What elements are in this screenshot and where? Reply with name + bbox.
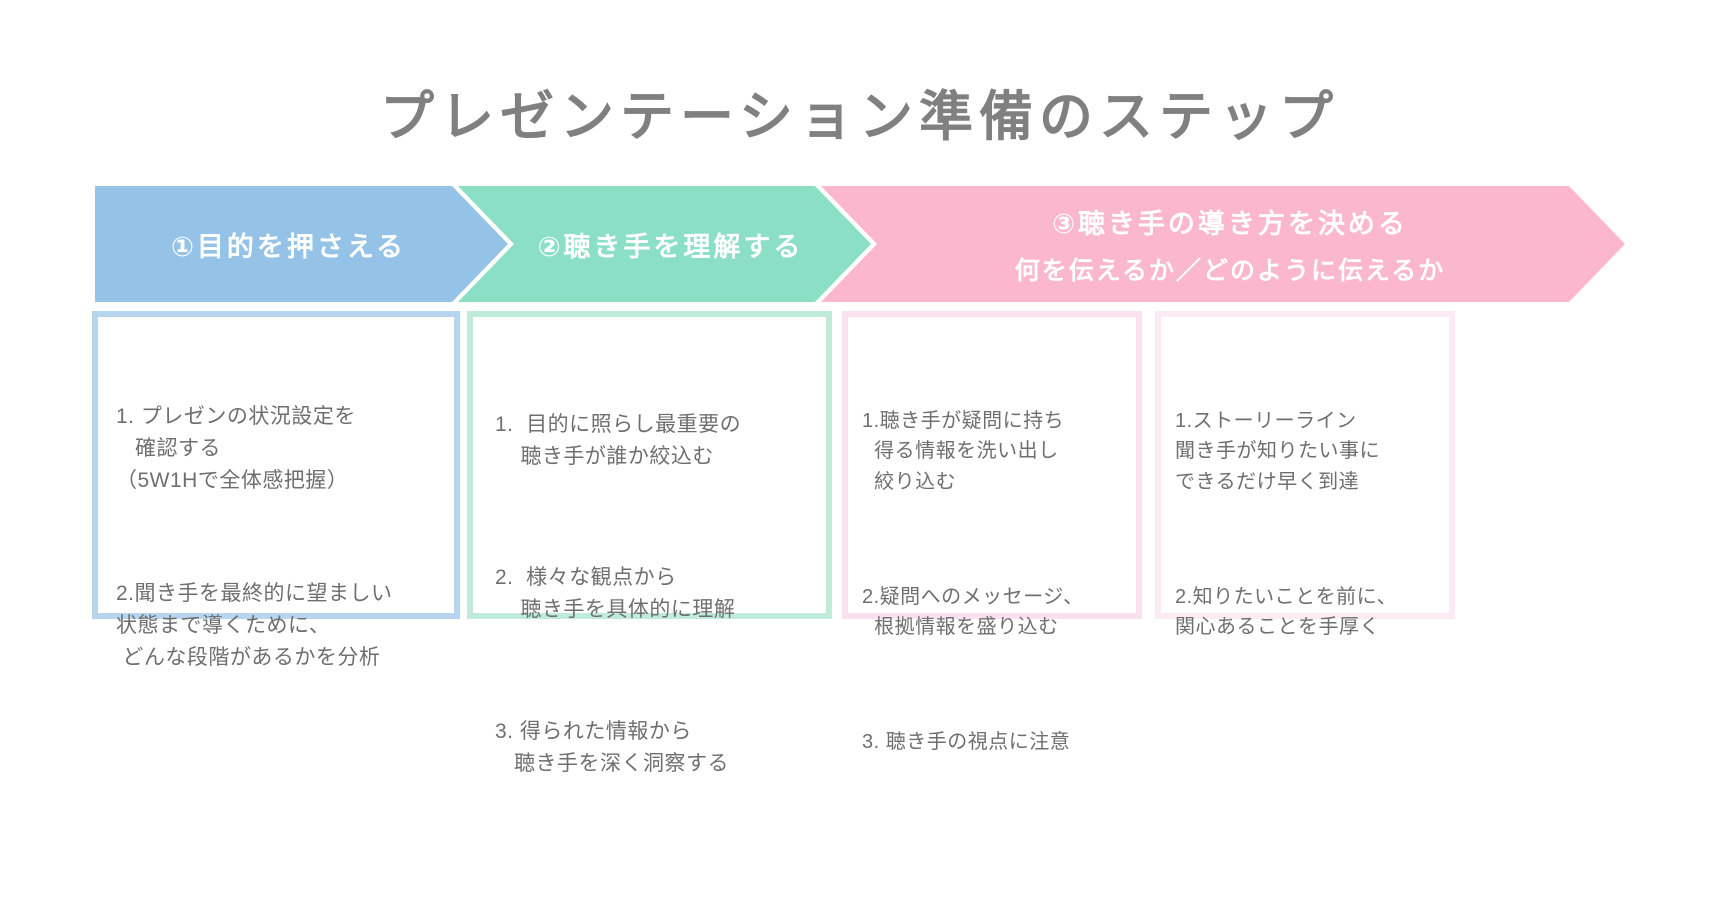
step-arrow-2[interactable]: ②聴き手を理解する xyxy=(458,186,871,302)
list-item: 3. 得られた情報から 聴き手を深く洞察する xyxy=(495,716,812,780)
list-item: 2. 様々な観点から 聴き手を具体的に理解 xyxy=(495,562,812,626)
detail-box-4[interactable]: 1.ストーリーライン 聞き手が知りたい事に できるだけ早く到達 2.知りたいこと… xyxy=(1155,311,1455,619)
step-arrow-1-label: ①目的を押さえる xyxy=(171,225,406,264)
step-arrow-3-label: ③聴き手の導き方を決める xyxy=(1052,202,1408,241)
step-arrow-1[interactable]: ①目的を押さえる xyxy=(95,186,508,302)
list-item: 3. 聴き手の視点に注意 xyxy=(862,727,1122,757)
detail-box-2[interactable]: 1. 目的に照らし最重要の 聴き手が誰か絞込む 2. 様々な観点から 聴き手を具… xyxy=(467,311,832,619)
detail-box-3[interactable]: 1.聴き手が疑問に持ち 得る情報を洗い出し 絞り込む 2.疑問へのメッセージ、 … xyxy=(842,311,1142,619)
list-item: 1. プレゼンの状況設定を 確認する （5W1Hで全体感把握） xyxy=(116,401,440,497)
detail-box-3-content: 1.聴き手が疑問に持ち 得る情報を洗い出し 絞り込む 2.疑問へのメッセージ、 … xyxy=(848,317,1136,842)
detail-box-2-content: 1. 目的に照らし最重要の 聴き手が誰か絞込む 2. 様々な観点から 聴き手を具… xyxy=(473,317,826,870)
process-arrow-band: ①目的を押さえる ②聴き手を理解する ③聴き手の導き方を決める 何を伝えるか／ど… xyxy=(95,186,1625,302)
list-item: 1. 目的に照らし最重要の 聴き手が誰か絞込む xyxy=(495,409,812,473)
list-item: 2.聞き手を最終的に望ましい 状態まで導くために、 どんな段階があるかを分析 xyxy=(116,578,440,674)
detail-box-row: 1. プレゼンの状況設定を 確認する （5W1Hで全体感把握） 2.聞き手を最終… xyxy=(92,311,1628,619)
page-title: プレゼンテーション準備のステップ xyxy=(0,72,1719,151)
list-item: 1.ストーリーライン 聞き手が知りたい事に できるだけ早く到達 xyxy=(1175,406,1435,497)
detail-box-1[interactable]: 1. プレゼンの状況設定を 確認する （5W1Hで全体感把握） 2.聞き手を最終… xyxy=(92,311,460,619)
step-arrow-2-label: ②聴き手を理解する xyxy=(538,225,804,264)
list-item: 2.知りたいことを前に、 関心あることを手厚く xyxy=(1175,582,1435,643)
list-item: 2.疑問へのメッセージ、 根拠情報を盛り込む xyxy=(862,582,1122,643)
detail-box-1-content: 1. プレゼンの状況設定を 確認する （5W1Hで全体感把握） 2.聞き手を最終… xyxy=(98,317,454,738)
step-arrow-3[interactable]: ③聴き手の導き方を決める 何を伝えるか／どのように伝えるか xyxy=(821,186,1625,302)
step-arrow-3-sublabel: 何を伝えるか／どのように伝えるか xyxy=(1015,251,1446,287)
detail-box-4-content: 1.ストーリーライン 聞き手が知りたい事に できるだけ早く到達 2.知りたいこと… xyxy=(1161,317,1449,727)
list-item: 1.聴き手が疑問に持ち 得る情報を洗い出し 絞り込む xyxy=(862,406,1122,497)
